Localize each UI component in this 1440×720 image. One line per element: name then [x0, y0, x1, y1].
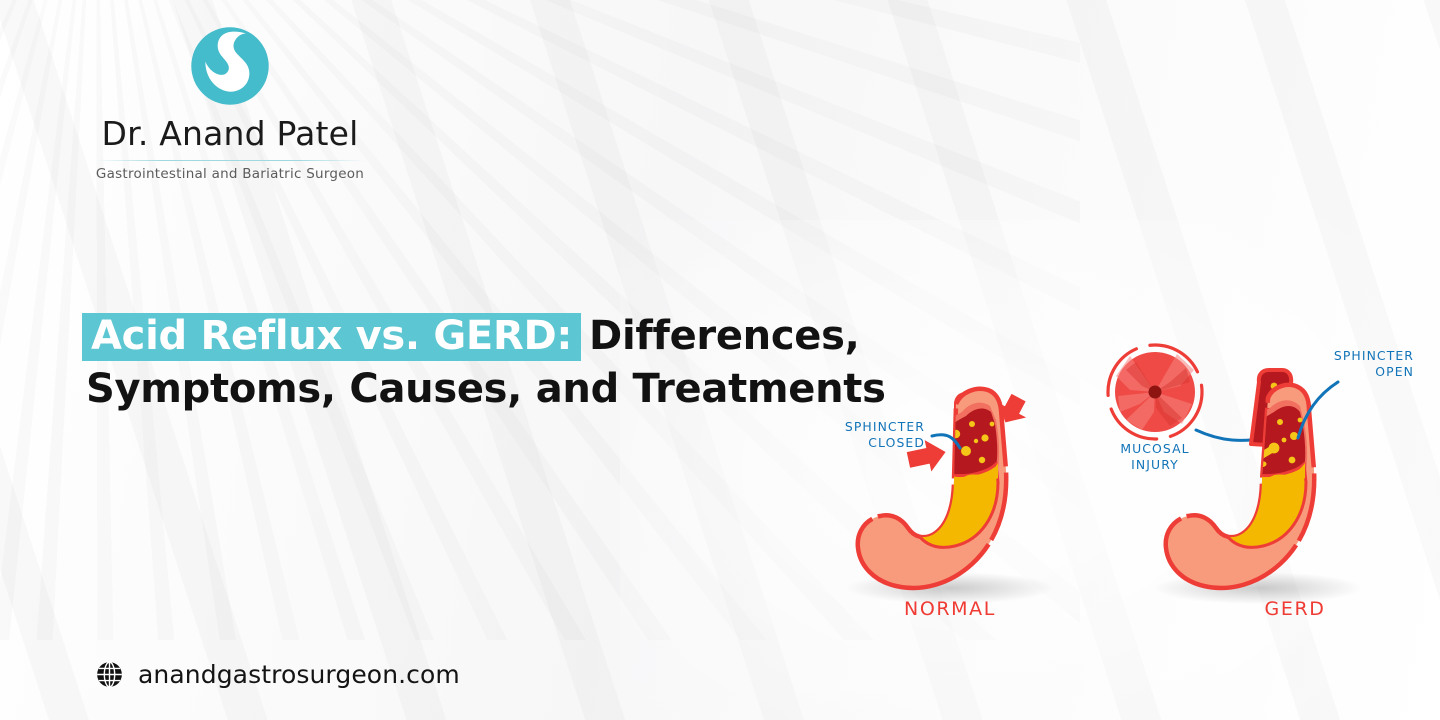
- stomach-circle-logo-icon: [186, 22, 274, 110]
- gerd-sphincter-label-line1: SPHINCTER: [1334, 348, 1414, 363]
- page-title: Acid Reflux vs. GERD:Differences, Sympto…: [86, 312, 916, 413]
- gerd-illustration: SPHINCTER CLOSED NORMAL: [830, 320, 1430, 650]
- brand-tagline: Gastrointestinal and Bariatric Surgeon: [90, 166, 370, 182]
- mucosal-injury-label-line1: MUCOSAL: [1120, 441, 1189, 456]
- globe-icon: [96, 661, 123, 688]
- normal-sphincter-label-line1: SPHINCTER: [845, 419, 925, 434]
- brand-divider: [95, 160, 365, 161]
- gerd-caption: GERD: [1265, 598, 1326, 620]
- gerd-sphincter-label-line2: OPEN: [1375, 364, 1414, 379]
- title-line-1-rest: Differences,: [589, 313, 859, 359]
- title-line-2: Symptoms, Causes, and Treatments: [86, 365, 916, 413]
- footer-website[interactable]: anandgastrosurgeon.com: [96, 660, 460, 689]
- mucosal-injury-inset: MUCOSAL INJURY: [1108, 345, 1268, 472]
- brand-logo-block[interactable]: Dr. Anand Patel Gastrointestinal and Bar…: [90, 22, 370, 182]
- banner-root: Dr. Anand Patel Gastrointestinal and Bar…: [0, 0, 1440, 720]
- brand-name: Dr. Anand Patel: [90, 116, 370, 153]
- illustration-svg: SPHINCTER CLOSED NORMAL: [830, 320, 1430, 650]
- title-line-1: Acid Reflux vs. GERD:Differences,: [86, 312, 916, 361]
- normal-sphincter-label-line2: CLOSED: [868, 435, 925, 450]
- website-url[interactable]: anandgastrosurgeon.com: [138, 660, 460, 689]
- normal-caption: NORMAL: [904, 598, 996, 620]
- mucosal-injury-label-line2: INJURY: [1131, 457, 1179, 472]
- title-highlight: Acid Reflux vs. GERD:: [82, 313, 581, 361]
